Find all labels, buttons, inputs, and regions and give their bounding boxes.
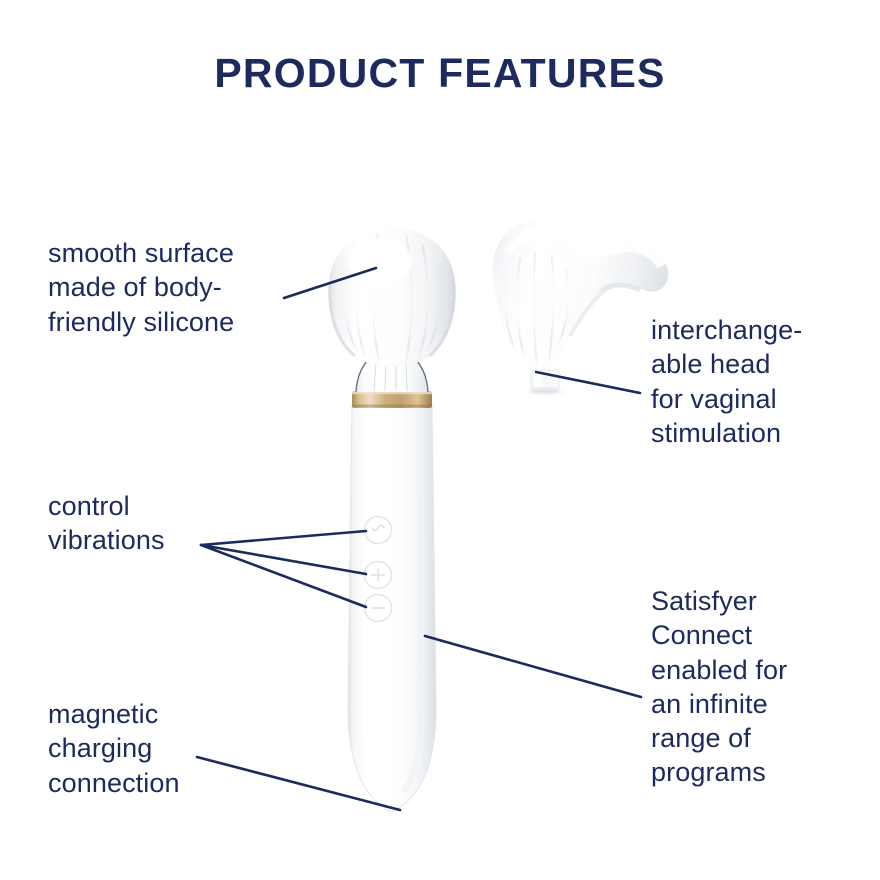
callout-line: range of bbox=[651, 721, 787, 755]
callout-line: Connect bbox=[651, 618, 787, 652]
callout-line: enabled for bbox=[651, 653, 787, 687]
control-vibrations-callout: control vibrations bbox=[48, 489, 165, 558]
callout-line: friendly silicone bbox=[48, 305, 234, 339]
page-title: PRODUCT FEATURES bbox=[0, 52, 880, 95]
wand-vibrator bbox=[329, 228, 456, 812]
gold-ring bbox=[352, 391, 432, 408]
callout-line: for vaginal bbox=[651, 382, 802, 416]
callout-line: vibrations bbox=[48, 523, 165, 557]
satisfyer-connect-callout: Satisfyer Connect enabled for an infinit… bbox=[651, 584, 787, 790]
product-features-infographic: PRODUCT FEATURES smooth surface made of … bbox=[0, 0, 880, 880]
callout-line: stimulation bbox=[651, 416, 802, 450]
smooth-surface-callout: smooth surface made of body- friendly si… bbox=[48, 236, 234, 339]
callout-line: programs bbox=[651, 755, 787, 789]
interchangeable-head-callout: interchange- able head for vaginal stimu… bbox=[651, 313, 802, 450]
g-spot-attachment-head bbox=[493, 221, 669, 396]
callout-line: charging bbox=[48, 731, 180, 765]
silicone-head bbox=[329, 228, 456, 366]
callout-line: control bbox=[48, 489, 165, 523]
callout-line: an infinite bbox=[651, 687, 787, 721]
callout-line: able head bbox=[651, 347, 802, 381]
callout-line: smooth surface bbox=[48, 236, 234, 270]
callout-line: made of body- bbox=[48, 270, 234, 304]
magnetic-charging-callout: magnetic charging connection bbox=[48, 697, 180, 800]
callout-line: interchange- bbox=[651, 313, 802, 347]
callout-line: connection bbox=[48, 766, 180, 800]
callout-line: Satisfyer bbox=[651, 584, 787, 618]
callout-line: magnetic bbox=[48, 697, 180, 731]
